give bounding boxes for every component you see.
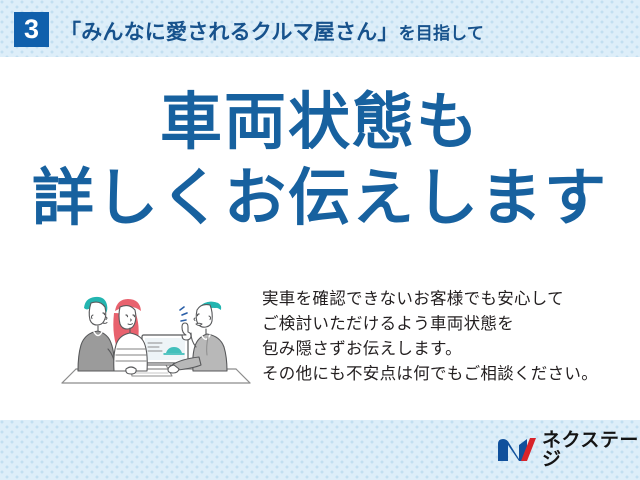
- advertisement-banner: 3 「みんなに愛されるクルマ屋さん」を目指して 車両状態も 詳しくお伝えします: [0, 0, 640, 480]
- header-title-main: 「みんなに愛されるクルマ屋さん」: [60, 21, 399, 44]
- customer-consultation-illustration: [58, 277, 254, 399]
- body-copy-line: 実車を確認できないお客様でも安心して: [262, 287, 622, 312]
- header-title: 「みんなに愛されるクルマ屋さん」を目指して: [60, 16, 484, 46]
- page-headline: 車両状態も 詳しくお伝えします: [0, 92, 640, 230]
- step-number-badge: 3: [14, 12, 49, 47]
- body-copy-line: その他にも不安点は何でもご相談ください。: [262, 362, 622, 387]
- body-copy-line: 包み隠さずお伝えします。: [262, 337, 622, 362]
- nextage-n-mark-icon: [497, 437, 537, 463]
- body-copy: 実車を確認できないお客様でも安心して ご検討いただけるよう車両状態を 包み隠さず…: [262, 287, 622, 387]
- brand-logo: ネクステージ: [497, 436, 640, 464]
- headline-line-2: 詳しくお伝えします: [0, 168, 640, 230]
- body-copy-line: ご検討いただけるよう車両状態を: [262, 312, 622, 337]
- headline-line-1: 車両状態も: [0, 92, 640, 168]
- brand-name: ネクステージ: [542, 431, 640, 469]
- header-title-suffix: を目指して: [399, 24, 485, 43]
